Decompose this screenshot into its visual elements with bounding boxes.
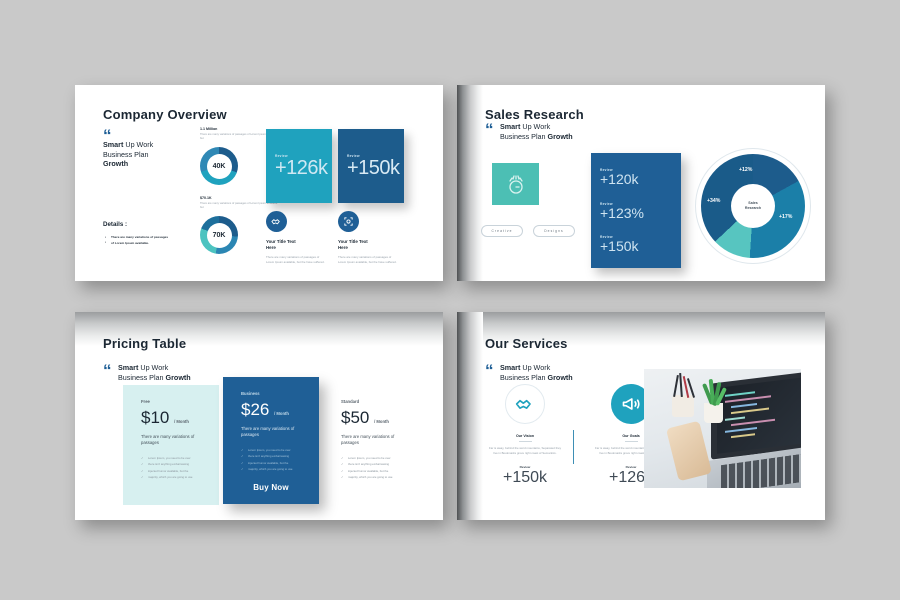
feature-title-line2: Here <box>266 245 276 250</box>
list-item: majority, which you are going to use <box>241 466 301 472</box>
details-bullet-list: There are many variations of passages of… <box>105 235 195 247</box>
tagline-line-2: Business Plan <box>500 373 546 382</box>
feature-title-line1: Your Title Text <box>266 239 296 244</box>
list-item: majority, which you are going to use <box>141 474 201 480</box>
slice-label-34: +34% <box>707 198 720 204</box>
plan-description: There are many variations of passages <box>341 434 413 446</box>
feature-title-line1: Your Title Text <box>338 239 368 244</box>
page-title: Company Overview <box>103 107 227 122</box>
tagline-bold-3: Growth <box>548 132 573 141</box>
plan-name: Standard <box>341 399 401 404</box>
card-number: +126k <box>275 158 332 178</box>
stat-description: There are many variations of passages of… <box>200 202 280 211</box>
metric-row-120k: Review +120k <box>600 168 681 186</box>
metric-row-150k: Review +150k <box>600 235 681 253</box>
service-body: Far is away, behind the word mountains, … <box>475 446 575 456</box>
tagline-bold-1: Smart <box>118 363 138 372</box>
feature-title-1: Your Title Text Here <box>266 239 296 251</box>
quote-icon: “ <box>485 123 493 137</box>
tagline-rest-1: Up Work <box>520 363 550 372</box>
handshake-icon <box>505 384 545 424</box>
tag-designs[interactable]: Designs <box>533 225 575 237</box>
tagline: Smart Up Work Business Plan Growth <box>118 363 238 382</box>
eye-scan-icon <box>338 211 359 232</box>
donut-center-label: Sales Research <box>731 184 775 228</box>
plan-feature-list: Lorem Ipsum, you need to be over there i… <box>241 447 301 473</box>
plan-description: There are many variations of passages <box>241 426 313 438</box>
tagline: Smart Up Work Business Plan Growth <box>500 122 620 141</box>
page-title: Pricing Table <box>103 336 186 351</box>
metric-card-150k: Review +150k <box>338 129 404 203</box>
feature-title-2: Your Title Text Here <box>338 239 368 251</box>
plan-description: There are many variations of passages <box>141 434 213 446</box>
donut-value: 40K <box>207 154 232 179</box>
quote-icon: “ <box>485 364 493 378</box>
tagline-bold-3: Growth <box>548 373 573 382</box>
slice-label-17: +17% <box>779 214 792 220</box>
pricing-card-free[interactable]: Free $10 / Month There are many variatio… <box>123 385 219 505</box>
card-number: +150k <box>600 239 681 253</box>
tagline: Smart Up Work Business Plan Growth <box>500 363 620 382</box>
plan-price-value: $10 <box>141 408 169 427</box>
divider <box>519 441 532 442</box>
tagline-line-2: Business Plan <box>103 150 149 159</box>
plan-price-period: / Month <box>174 419 189 424</box>
plan-price-period: / Month <box>374 419 389 424</box>
pricing-card-standard[interactable]: Standard $50 / Month There are many vari… <box>323 385 419 505</box>
plan-name: Business <box>241 391 301 396</box>
metric-card-126k: Review +126k <box>266 129 332 203</box>
donut-chart-sales-research: Sales Research +17% +34% +12% <box>695 148 811 264</box>
card-number: +150k <box>347 158 404 178</box>
tagline-bold-1: Smart <box>500 363 520 372</box>
plan-price: $10 / Month <box>141 409 201 427</box>
tagline-rest-1: Up Work <box>138 363 168 372</box>
donut-center-line2: Research <box>745 206 761 211</box>
desk-photo <box>644 369 801 488</box>
feature-title-line2: Here <box>338 245 348 250</box>
presentation-mockup-canvas: Company Overview “ Smart Up Work Busines… <box>0 0 900 600</box>
slide-our-services[interactable]: Our Services “ Smart Up Work Business Pl… <box>457 312 825 520</box>
metric-stack-card: Review +120k Review +123% Review +150k <box>591 153 681 268</box>
quote-icon: “ <box>103 364 111 378</box>
list-item: majority, which you are going to use <box>341 474 401 480</box>
details-label: Details : <box>103 221 127 228</box>
plan-feature-list: Lorem Ipsum, you need to be over there i… <box>141 455 201 481</box>
feature-body-1: There are many variations of passages of… <box>266 255 328 264</box>
feature-body-2: There are many variations of passages of… <box>338 255 400 264</box>
slide-sales-research[interactable]: Sales Research “ Smart Up Work Business … <box>457 85 825 281</box>
service-number: +150k <box>475 470 575 486</box>
tagline-line-2: Business Plan <box>500 132 546 141</box>
tagline-bold-1: Smart <box>103 140 123 149</box>
tagline-bold-1: Smart <box>500 122 520 131</box>
tagline-bold-3: Growth <box>103 159 128 168</box>
tagline-line-2: Business Plan <box>118 373 164 382</box>
plan-feature-list: Lorem Ipsum, you need to be over there i… <box>341 455 401 481</box>
handshake-icon <box>266 211 287 232</box>
tagline-rest-1: Up Work <box>123 140 153 149</box>
donut-chart-70k: 70K <box>200 216 238 254</box>
slice-label-12: +12% <box>739 167 752 173</box>
tagline-bold-3: Growth <box>166 373 191 382</box>
plan-name: Free <box>141 399 201 404</box>
service-column-vision: Our Vision Far is away, behind the word … <box>475 384 575 486</box>
donut-chart-40k: 40K <box>200 147 238 185</box>
tagline: Smart Up Work Business Plan Growth <box>103 140 198 169</box>
slide-company-overview[interactable]: Company Overview “ Smart Up Work Busines… <box>75 85 443 281</box>
plan-price-value: $26 <box>241 400 269 419</box>
card-number: +123% <box>600 206 681 220</box>
metric-row-123pct: Review +123% <box>600 202 681 220</box>
plan-price-value: $50 <box>341 408 369 427</box>
target-growth-icon <box>492 163 539 205</box>
tag-creative[interactable]: Creative <box>481 225 523 237</box>
list-item: of Lorem Ipsum available. <box>105 241 195 247</box>
vertical-divider <box>573 430 574 464</box>
plan-price-period: / Month <box>274 411 289 416</box>
slide-pricing-table[interactable]: Pricing Table “ Smart Up Work Business P… <box>75 312 443 520</box>
page-title: Sales Research <box>485 107 584 122</box>
pricing-card-business[interactable]: Business $26 / Month There are many vari… <box>223 377 319 504</box>
buy-now-button[interactable]: Buy Now <box>223 483 319 492</box>
tagline-rest-1: Up Work <box>520 122 550 131</box>
page-title: Our Services <box>485 336 568 351</box>
plan-price: $26 / Month <box>241 401 301 419</box>
divider <box>625 441 638 442</box>
plan-price: $50 / Month <box>341 409 401 427</box>
donut-value: 70K <box>207 223 232 248</box>
card-number: +120k <box>600 172 681 186</box>
service-name: Our Vision <box>475 434 575 438</box>
